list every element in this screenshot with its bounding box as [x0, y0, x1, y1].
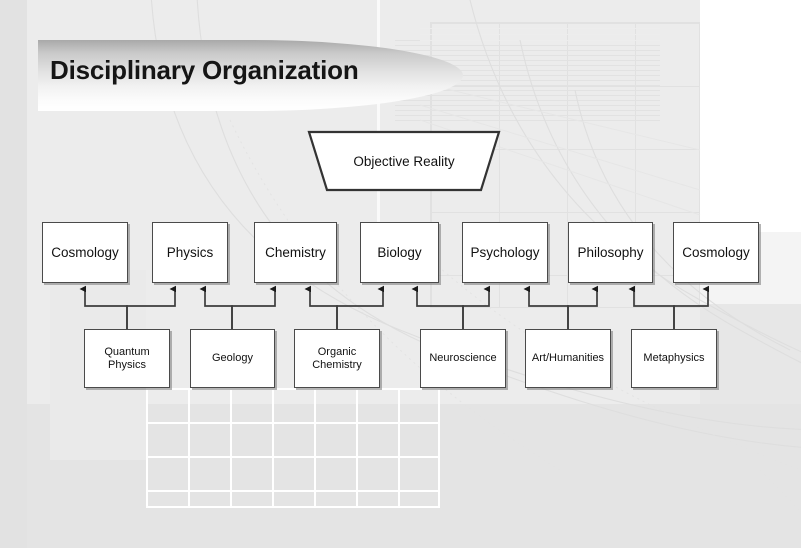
connector-8 — [463, 289, 489, 329]
node-organic-chemistry[interactable]: Organic Chemistry — [294, 329, 380, 388]
connector-11 — [634, 289, 674, 329]
node-label: Art/Humanities — [532, 352, 604, 365]
node-philosophy[interactable]: Philosophy — [568, 222, 653, 283]
background-panel-lower — [0, 404, 801, 548]
node-chemistry[interactable]: Chemistry — [254, 222, 337, 283]
background-panel-top-right — [700, 0, 801, 232]
node-cosmology[interactable]: Cosmology — [673, 222, 759, 283]
node-geology[interactable]: Geology — [190, 329, 275, 388]
node-label: Physics — [167, 245, 214, 261]
node-label: Philosophy — [577, 245, 643, 261]
connector-10 — [568, 289, 597, 329]
node-label: Cosmology — [682, 245, 750, 261]
node-label: Geology — [212, 352, 253, 365]
node-label: Quantum Physics — [85, 346, 169, 371]
node-label: Chemistry — [265, 245, 326, 261]
background-stripes-upper — [420, 28, 660, 46]
background-left-strip — [0, 0, 27, 548]
node-label: Neuroscience — [429, 352, 496, 365]
node-physics[interactable]: Physics — [152, 222, 228, 283]
node-neuroscience[interactable]: Neuroscience — [420, 329, 506, 388]
connector-3 — [205, 289, 232, 329]
connector-2 — [127, 289, 175, 329]
connector-7 — [417, 289, 463, 329]
node-label: Cosmology — [51, 245, 119, 261]
node-cosmology[interactable]: Cosmology — [42, 222, 128, 283]
connector-12 — [674, 289, 708, 329]
slide-canvas: Disciplinary Organization Objective Real… — [0, 0, 801, 548]
background-grid-white — [146, 388, 440, 508]
node-label: Objective Reality — [303, 130, 505, 192]
node-objective-reality[interactable]: Objective Reality — [303, 130, 505, 192]
node-label: Biology — [377, 245, 421, 261]
node-metaphysics[interactable]: Metaphysics — [631, 329, 717, 388]
connector-6 — [337, 289, 383, 329]
node-psychology[interactable]: Psychology — [462, 222, 548, 283]
node-art-humanities[interactable]: Art/Humanities — [525, 329, 611, 388]
connector-4 — [232, 289, 275, 329]
node-label: Psychology — [470, 245, 539, 261]
connector-9 — [529, 289, 568, 329]
node-quantum-physics[interactable]: Quantum Physics — [84, 329, 170, 388]
node-label: Metaphysics — [643, 352, 704, 365]
page-title: Disciplinary Organization — [50, 55, 359, 86]
node-label: Organic Chemistry — [295, 346, 379, 371]
connector-5 — [310, 289, 337, 329]
node-biology[interactable]: Biology — [360, 222, 439, 283]
connector-1 — [85, 289, 127, 329]
